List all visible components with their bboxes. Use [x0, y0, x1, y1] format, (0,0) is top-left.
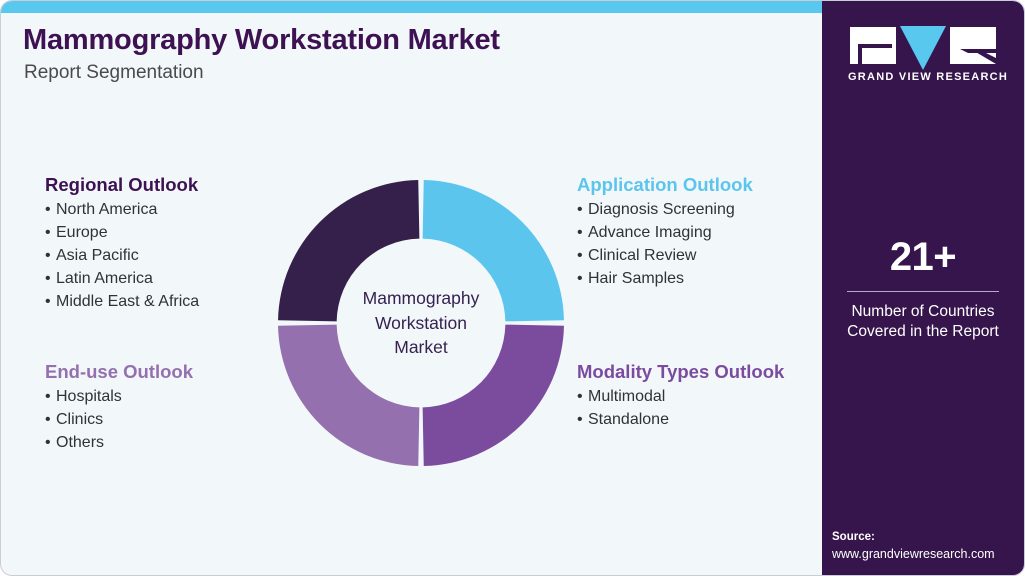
- bullet-icon: •: [45, 386, 56, 409]
- segment-heading-application: Application Outlook: [577, 173, 753, 196]
- list-item-label: Clinics: [56, 411, 103, 428]
- bullet-icon: •: [577, 199, 588, 222]
- list-item-label: Advance Imaging: [588, 224, 712, 241]
- list-item: •Advance Imaging: [577, 222, 753, 245]
- donut-segment: [278, 325, 419, 466]
- logo-g-mark-icon: [850, 27, 896, 64]
- list-item-label: Standalone: [588, 411, 669, 428]
- main-content-area: Mammography Workstation Market Report Se…: [1, 13, 825, 576]
- segment-block-regional: Regional Outlook •North America •Europe …: [45, 173, 199, 314]
- segment-list-regional: •North America •Europe •Asia Pacific •La…: [45, 199, 199, 313]
- segment-list-enduse: •Hospitals •Clinics •Others: [45, 386, 193, 455]
- donut-chart-svg: [274, 170, 568, 476]
- logo-r-mark-icon: [950, 27, 996, 64]
- segment-block-application: Application Outlook •Diagnosis Screening…: [577, 173, 753, 291]
- list-item-label: Others: [56, 434, 104, 451]
- bullet-icon: •: [45, 291, 56, 314]
- infographic-card: Mammography Workstation Market Report Se…: [0, 0, 1025, 576]
- source-title: Source:: [832, 529, 1014, 546]
- list-item-label: Clinical Review: [588, 247, 696, 264]
- list-item: •Asia Pacific: [45, 245, 199, 268]
- list-item: •Middle East & Africa: [45, 291, 199, 314]
- bullet-icon: •: [45, 432, 56, 455]
- list-item-label: Asia Pacific: [56, 247, 139, 264]
- stat-block: 21+ Number of Countries Covered in the R…: [822, 237, 1024, 342]
- segment-block-enduse: End-use Outlook •Hospitals •Clinics •Oth…: [45, 360, 193, 455]
- donut-chart: Mammography Workstation Market: [274, 170, 568, 476]
- page-subtitle: Report Segmentation: [24, 63, 500, 84]
- list-item-label: Multimodal: [588, 388, 665, 405]
- top-accent-bar: [1, 1, 825, 13]
- sidebar: GRAND VIEW RESEARCH 21+ Number of Countr…: [822, 1, 1024, 576]
- donut-segment: [423, 180, 564, 321]
- page-title: Mammography Workstation Market: [23, 25, 500, 57]
- stat-number: 21+: [822, 237, 1024, 277]
- bullet-icon: •: [577, 386, 588, 409]
- bullet-icon: •: [45, 268, 56, 291]
- list-item: •Hospitals: [45, 386, 193, 409]
- list-item-label: Middle East & Africa: [56, 293, 199, 310]
- source-block: Source: www.grandviewresearch.com: [822, 529, 1024, 563]
- stat-label-line-2: Covered in the Report: [822, 322, 1024, 342]
- list-item: •Multimodal: [577, 386, 784, 409]
- list-item-label: Hair Samples: [588, 270, 684, 287]
- list-item: •Standalone: [577, 409, 784, 432]
- segment-heading-modality: Modality Types Outlook: [577, 360, 784, 383]
- donut-segment: [278, 180, 419, 321]
- bullet-icon: •: [577, 409, 588, 432]
- logo-v-triangle-icon: [900, 26, 946, 73]
- stat-label-line-1: Number of Countries: [822, 302, 1024, 322]
- list-item-label: Latin America: [56, 270, 153, 287]
- header: Mammography Workstation Market Report Se…: [23, 25, 500, 84]
- bullet-icon: •: [45, 245, 56, 268]
- segment-list-application: •Diagnosis Screening •Advance Imaging •C…: [577, 199, 753, 291]
- brand-logo: GRAND VIEW RESEARCH: [848, 27, 998, 83]
- segment-block-modality: Modality Types Outlook •Multimodal •Stan…: [577, 360, 784, 432]
- bullet-icon: •: [577, 245, 588, 268]
- list-item: •Clinics: [45, 409, 193, 432]
- list-item: •Europe: [45, 222, 199, 245]
- list-item-label: North America: [56, 201, 157, 218]
- stat-divider: [847, 291, 999, 292]
- segment-heading-enduse: End-use Outlook: [45, 360, 193, 383]
- list-item-label: Europe: [56, 224, 108, 241]
- list-item: •Latin America: [45, 268, 199, 291]
- source-url[interactable]: www.grandviewresearch.com: [832, 546, 1014, 563]
- bullet-icon: •: [45, 222, 56, 245]
- bullet-icon: •: [577, 268, 588, 291]
- bullet-icon: •: [577, 222, 588, 245]
- list-item: •North America: [45, 199, 199, 222]
- list-item: •Hair Samples: [577, 268, 753, 291]
- bullet-icon: •: [45, 199, 56, 222]
- segment-list-modality: •Multimodal •Standalone: [577, 386, 784, 432]
- list-item-label: Hospitals: [56, 388, 122, 405]
- logo-wordmark: GRAND VIEW RESEARCH: [848, 71, 998, 83]
- list-item: •Clinical Review: [577, 245, 753, 268]
- bullet-icon: •: [45, 409, 56, 432]
- segment-heading-regional: Regional Outlook: [45, 173, 199, 196]
- list-item: •Diagnosis Screening: [577, 199, 753, 222]
- donut-segment-group: [278, 180, 564, 466]
- list-item-label: Diagnosis Screening: [588, 201, 735, 218]
- list-item: •Others: [45, 432, 193, 455]
- donut-segment: [423, 325, 564, 466]
- logo-marks: [848, 27, 998, 64]
